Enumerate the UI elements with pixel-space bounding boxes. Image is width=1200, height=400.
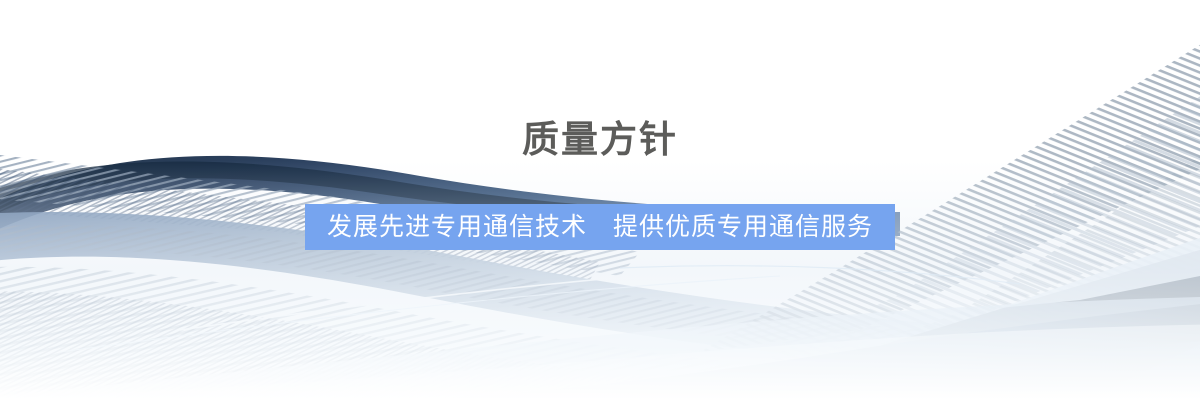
wave-pale-front-sweep: [0, 296, 1200, 400]
wave-bottom-navy: [420, 300, 1200, 400]
quality-policy-banner: 质量方针 发展先进专用通信技术 提供优质专用通信服务: [0, 0, 1200, 400]
wave-stripes-lower-left: [0, 267, 880, 400]
bottom-wash-gradient: [0, 160, 1200, 400]
wave-highlight-wedge: [1000, 224, 1200, 308]
wave-white-front-sweep: [0, 324, 1200, 400]
wave-bottom-navy-deep: [520, 338, 1200, 400]
wave-artwork: [0, 0, 1200, 400]
wave-filament-2: [60, 276, 780, 352]
page-title: 质量方针: [0, 114, 1200, 166]
wave-stripes-right-upper: [700, 20, 1200, 368]
wave-artwork-svg: [0, 0, 1200, 400]
wave-filament-3: [620, 266, 1020, 284]
tagline-bar: 发展先进专用通信技术 提供优质专用通信服务: [305, 204, 895, 250]
wave-filament-1: [180, 266, 760, 330]
wave-gray-slab: [840, 238, 1200, 358]
tagline-text: 发展先进专用通信技术 提供优质专用通信服务: [327, 204, 873, 250]
